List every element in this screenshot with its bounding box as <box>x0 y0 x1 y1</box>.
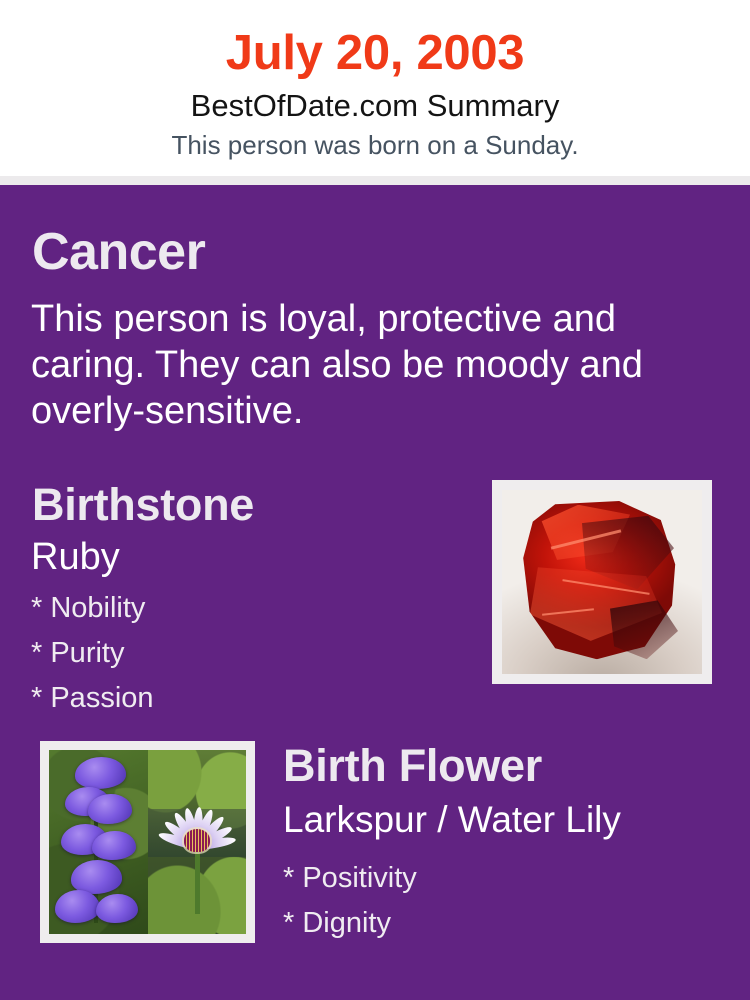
birth-flower-heading: Birth Flower <box>283 740 542 792</box>
site-summary-label: BestOfDate.com Summary <box>0 87 750 124</box>
list-item: * Positivity <box>283 856 723 901</box>
zodiac-description: This person is loyal, protective and car… <box>31 296 671 434</box>
larkspur-bloom <box>71 860 122 893</box>
water-lily-bloom <box>161 787 232 861</box>
water-lily-stem <box>195 851 200 914</box>
birth-flower-image-frame <box>40 741 255 943</box>
birth-flower-trait-list: * Positivity * Dignity <box>283 856 723 946</box>
birthstone-name: Ruby <box>31 535 120 580</box>
born-weekday-text: This person was born on a Sunday. <box>0 129 750 161</box>
list-item: * Purity <box>31 631 461 676</box>
birth-flower-image <box>49 750 246 934</box>
larkspur-bloom <box>55 890 100 923</box>
page-title: July 20, 2003 <box>0 25 750 81</box>
birthstone-image-frame <box>492 480 712 684</box>
birth-flower-name: Larkspur / Water Lily <box>283 798 621 842</box>
zodiac-sign-heading: Cancer <box>32 222 205 282</box>
lily-stamen-center <box>184 829 210 851</box>
larkspur-bloom <box>92 831 135 860</box>
larkspur-photo-half <box>49 750 148 934</box>
list-item: * Dignity <box>283 901 723 946</box>
water-lily-photo-half <box>148 750 247 934</box>
card-header: July 20, 2003 BestOfDate.com Summary Thi… <box>0 0 750 176</box>
list-item: * Passion <box>31 676 461 721</box>
larkspur-bloom <box>88 794 131 823</box>
birthstone-heading: Birthstone <box>32 479 254 531</box>
list-item: * Nobility <box>31 586 461 631</box>
header-divider <box>0 176 750 185</box>
birthday-summary-card: July 20, 2003 BestOfDate.com Summary Thi… <box>0 0 750 1000</box>
birthstone-trait-list: * Nobility * Purity * Passion <box>31 586 461 721</box>
ruby-crystal-image <box>502 490 702 674</box>
larkspur-bloom <box>75 757 126 788</box>
larkspur-bloom <box>96 894 137 923</box>
